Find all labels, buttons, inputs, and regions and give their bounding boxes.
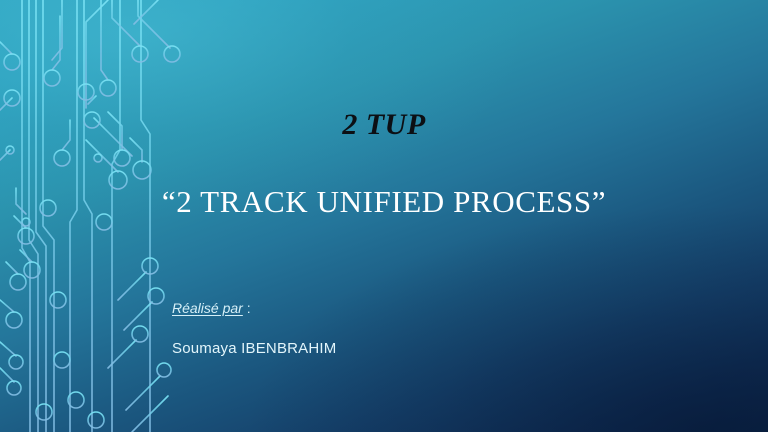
byline-colon: : — [243, 300, 251, 316]
author-name: Soumaya IBENBRAHIM — [172, 340, 336, 357]
slide-subtitle: “2 TRACK UNIFIED PROCESS” — [0, 184, 768, 220]
slide-content: 2 TUP “2 TRACK UNIFIED PROCESS” Réalisé … — [0, 0, 768, 432]
byline-label: Réalisé par — [172, 300, 243, 316]
slide-title: 2 TUP — [0, 108, 768, 142]
byline: Réalisé par : — [172, 300, 251, 316]
presentation-slide: 2 TUP “2 TRACK UNIFIED PROCESS” Réalisé … — [0, 0, 768, 432]
